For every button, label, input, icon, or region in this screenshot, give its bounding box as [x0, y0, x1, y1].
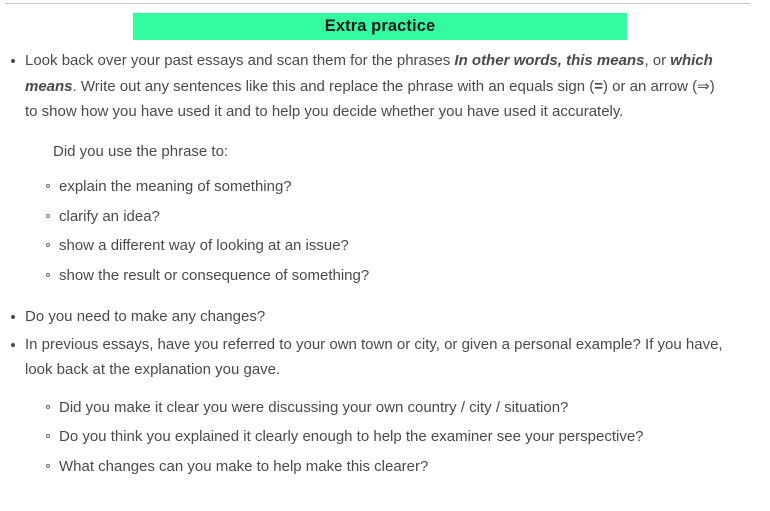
sublist-2-item-3-label: What changes can you make to help make t… [59, 458, 428, 475]
bullet-disc-icon [11, 315, 15, 319]
bullet-disc-icon [11, 343, 15, 347]
bullet-circle-icon [46, 273, 50, 277]
main-bullet-item-2: Do you need to make any changes? [0, 304, 770, 330]
main-bullet-list-2: Do you need to make any changes? In prev… [0, 304, 770, 383]
main-bullet-list: Look back over your past essays and scan… [0, 48, 770, 125]
sublist-1-item-2-label: clarify an idea? [59, 208, 160, 225]
sublist-1-item-2: clarify an idea? [0, 204, 770, 230]
bullet-circle-icon [46, 464, 50, 468]
extra-practice-banner: Extra practice [133, 13, 627, 40]
main-bullet-item-1: Look back over your past essays and scan… [0, 48, 770, 125]
bullet-circle-icon [46, 434, 50, 438]
bullet-1-segment-3: . Write out any sentences like this and … [73, 78, 595, 95]
bullet-1-segment-2: , or [644, 52, 670, 69]
sublist-2-item-2: Do you think you explained it clearly en… [0, 424, 770, 450]
bullet-1-emphasis-1: In other words, this means [454, 52, 644, 69]
sublist-1-item-3: show a different way of looking at an is… [0, 233, 770, 259]
sublist-2-item-1: Did you make it clear you were discussin… [0, 395, 770, 421]
worksheet-page: Extra practice Look back over your past … [0, 0, 770, 511]
sublist-2-item-3: What changes can you make to help make t… [0, 454, 770, 480]
sublist-2-item-1-label: Did you make it clear you were discussin… [59, 399, 568, 416]
sublist-2-item-2-label: Do you think you explained it clearly en… [59, 428, 644, 445]
sublist-1-item-3-label: show a different way of looking at an is… [59, 237, 349, 254]
bullet-disc-icon [11, 59, 15, 63]
sublist-1-item-1-label: explain the meaning of something? [59, 178, 292, 195]
spacer [0, 385, 770, 395]
main-bullet-item-3-label: In previous essays, have you referred to… [25, 336, 723, 379]
bullet-1-segment-1: Look back over your past essays and scan… [25, 52, 454, 69]
sublist-1-item-1: explain the meaning of something? [0, 174, 770, 200]
sublist-1: explain the meaning of something? clarif… [0, 174, 770, 288]
banner-title: Extra practice [133, 13, 627, 40]
spacer [0, 292, 770, 304]
bullet-circle-icon [46, 184, 50, 188]
sublist-1-item-4: show the result or consequence of someth… [0, 263, 770, 289]
main-bullet-item-3: In previous essays, have you referred to… [0, 332, 770, 383]
worksheet-content: Look back over your past essays and scan… [0, 48, 770, 483]
prompt-line: Did you use the phrase to: [0, 139, 770, 165]
sublist-1-item-4-label: show the result or consequence of someth… [59, 267, 369, 284]
bullet-circle-icon [46, 243, 50, 247]
sublist-2: Did you make it clear you were discussin… [0, 395, 770, 480]
main-bullet-item-2-label: Do you need to make any changes? [25, 308, 265, 325]
bullet-circle-icon [46, 214, 50, 218]
bullet-circle-icon [46, 405, 50, 409]
top-divider [5, 3, 750, 4]
bullet-1-equals-sign: = [594, 78, 603, 95]
